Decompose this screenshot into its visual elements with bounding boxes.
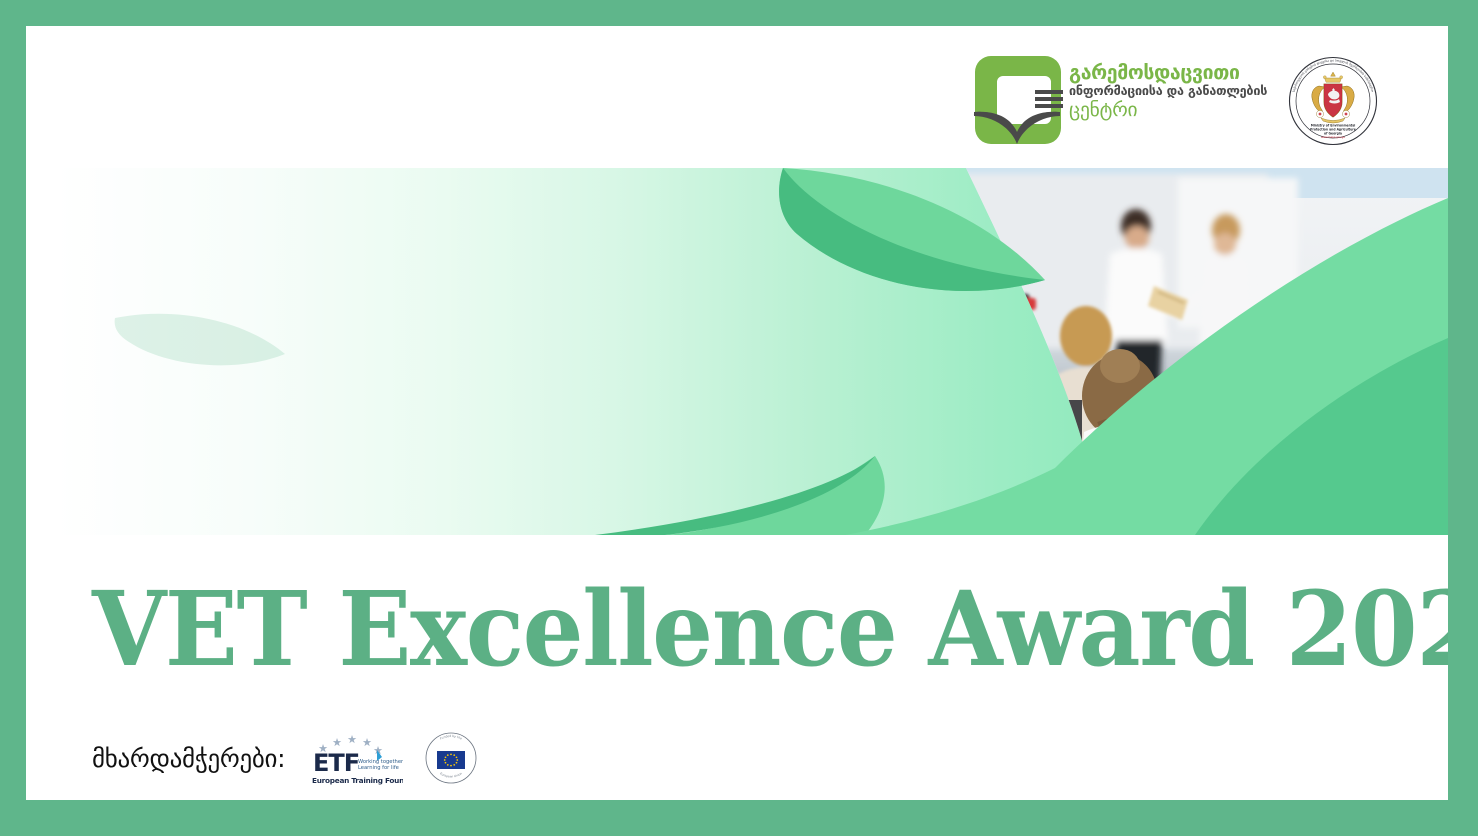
poster-root: გარემოსდაცვითი ინფორმაციისა და განათლები… xyxy=(0,0,1478,836)
leaf-shape-middle xyxy=(595,456,885,535)
page-title: VET Excellence Award 2022 xyxy=(92,578,1338,681)
supporters-label: მხარდამჭერები: xyxy=(92,744,285,773)
hero-banner xyxy=(55,168,1448,535)
eiec-logo: გარემოსდაცვითი ინფორმაციისა და განათლები… xyxy=(973,54,1263,146)
ministry-seal-inner-line4: www.mepa.gov.ge xyxy=(1321,136,1345,139)
leaf-shape-top xyxy=(779,168,1045,291)
eiec-logo-text: გარემოსდაცვითი ინფორმაციისა და განათლები… xyxy=(1069,62,1269,121)
supporters-row: მხარდამჭერები: ETF xyxy=(92,726,477,790)
etf-full-name: European Training Foundation xyxy=(312,776,403,785)
european-union-logo: Funded by the European Union xyxy=(425,732,477,784)
ministry-seal-icon: საქართველოს გარემოს დაცვისა და სოფლის მე… xyxy=(1288,56,1378,146)
eiec-logo-line3: ცენტრი xyxy=(1069,99,1269,121)
eiec-logo-mark-icon xyxy=(973,54,1063,146)
etf-logo: ETF Working together Learning for life E… xyxy=(311,730,403,786)
eiec-logo-line1: გარემოსდაცვითი xyxy=(1069,62,1269,83)
etf-acronym: ETF xyxy=(313,749,359,777)
hero-leaf-decorations xyxy=(55,168,1448,535)
header-logos-row: გარემოსდაცვითი ინფორმაციისა და განათლები… xyxy=(26,26,1448,168)
eiec-logo-line2: ინფორმაციისა და განათლების xyxy=(1069,83,1269,99)
etf-tagline-line2: Learning for life xyxy=(358,765,399,771)
leaf-shape-left-faint xyxy=(115,314,285,366)
ministry-seal-inner-line3: of Georgia xyxy=(1324,131,1342,135)
poster-card: გარემოსდაცვითი ინფორმაციისა და განათლები… xyxy=(26,26,1448,800)
